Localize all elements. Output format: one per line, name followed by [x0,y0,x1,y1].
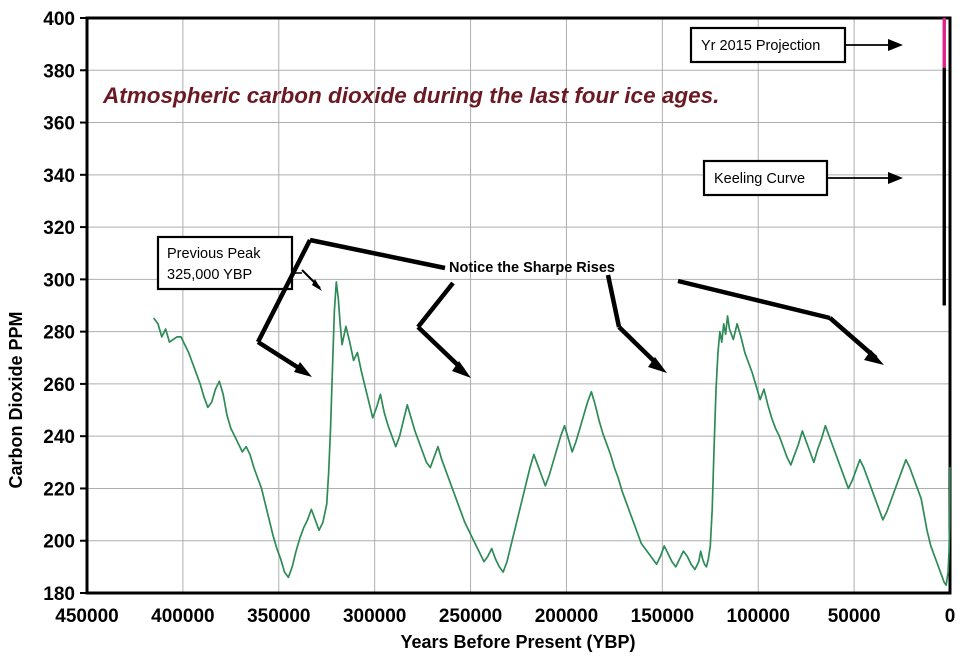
y-tick-label: 280 [43,323,75,344]
y-tick-label: 240 [43,427,75,448]
x-tick-label: 450000 [55,606,118,627]
x-tick-label: 150000 [631,606,694,627]
sharp-rises-label: Notice the Sharpe Rises [449,260,615,276]
x-tick-label: 50000 [828,606,881,627]
y-axis-title: Carbon Dioxide PPM [6,311,26,488]
x-tick-label: 200000 [535,606,598,627]
y-tick-label: 300 [43,270,75,291]
yr-2015-projection-label: Yr 2015 Projection [701,38,820,54]
y-tick-label: 200 [43,532,75,553]
y-tick-label: 360 [43,114,75,135]
x-tick-label: 100000 [727,606,790,627]
keeling-curve-label: Keeling Curve [714,171,805,187]
y-tick-label: 380 [43,61,75,82]
x-tick-label: 350000 [247,606,310,627]
chart-root: 180200220240260280300320340360380400 450… [0,0,975,662]
y-tick-label: 180 [43,584,75,605]
y-tick-label: 340 [43,166,75,187]
previous-peak-line-1: Previous Peak [167,246,261,262]
y-tick-label: 400 [43,9,75,30]
chart-title: Atmospheric carbon dioxide during the la… [102,83,719,108]
co2-ice-age-chart: 180200220240260280300320340360380400 450… [0,0,975,662]
x-tick-label: 300000 [343,606,406,627]
y-tick-label: 220 [43,479,75,500]
x-tick-label: 0 [945,606,956,627]
x-tick-label: 400000 [151,606,214,627]
previous-peak-line-2: 325,000 YBP [167,267,252,283]
y-tick-label: 260 [43,375,75,396]
x-tick-label: 250000 [439,606,502,627]
y-tick-label: 320 [43,218,75,239]
x-axis-title: Years Before Present (YBP) [400,632,635,652]
